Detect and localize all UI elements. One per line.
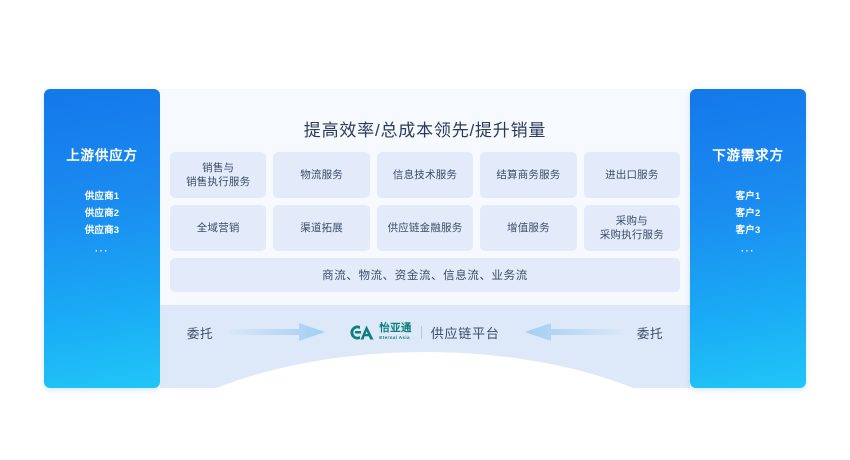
service-card[interactable]: 销售与 销售执行服务 (170, 152, 266, 198)
service-card[interactable]: 供应链金融服务 (377, 205, 473, 251)
service-card[interactable]: 信息技术服务 (377, 152, 473, 198)
upstream-suppliers-panel: 上游供应方 供应商1 供应商2 供应商3 ··· (44, 89, 160, 388)
platform-label: 供应链平台 (431, 323, 500, 342)
upstream-list: 供应商1 供应商2 供应商3 ··· (44, 188, 160, 260)
service-card[interactable]: 采购与 采购执行服务 (584, 205, 680, 251)
arrow-right-icon (226, 322, 328, 342)
platform-brand: 怡亚通 Eternal Asia 供应链平台 (328, 323, 522, 342)
arrow-left-icon (522, 322, 624, 342)
service-card-line1: 物流服务 (300, 168, 343, 182)
service-card[interactable]: 增值服务 (480, 205, 576, 251)
service-card-line1: 渠道拓展 (300, 221, 343, 235)
page-title: 提高效率/总成本领先/提升销量 (160, 89, 690, 141)
service-card-line1: 信息技术服务 (393, 168, 457, 182)
white-dome-shape (160, 352, 690, 388)
list-item-ellipsis: ··· (690, 239, 806, 260)
list-item: 供应商2 (44, 205, 160, 222)
service-card-line2: 销售执行服务 (186, 175, 250, 189)
service-card-line1: 结算商务服务 (496, 168, 560, 182)
list-item: 客户1 (690, 188, 806, 205)
list-item: 供应商3 (44, 222, 160, 239)
upstream-title: 上游供应方 (44, 144, 160, 164)
service-grid: 销售与 销售执行服务 物流服务 信息技术服务 结算商务服务 进出口服务 (160, 141, 690, 251)
entrust-label-right: 委托 (624, 323, 676, 342)
service-card-line1: 销售与 (186, 161, 250, 175)
flow-types-bar[interactable]: 商流、物流、资金流、信息流、业务流 (170, 258, 680, 292)
platform-stage: 提高效率/总成本领先/提升销量 销售与 销售执行服务 物流服务 信息技术服务 结… (160, 89, 690, 388)
service-row-1: 销售与 销售执行服务 物流服务 信息技术服务 结算商务服务 进出口服务 (170, 152, 680, 198)
brand-name-en: Eternal Asia (379, 336, 411, 341)
brand-divider (421, 326, 422, 339)
flow-types-label: 商流、物流、资金流、信息流、业务流 (322, 267, 528, 283)
service-card[interactable]: 结算商务服务 (480, 152, 576, 198)
service-card-line2: 采购执行服务 (600, 228, 664, 242)
infographic-canvas: 上游供应方 供应商1 供应商2 供应商3 ··· 提高效率/总成本领先/提升销量… (0, 0, 850, 460)
service-card-line1: 增值服务 (507, 221, 550, 235)
brand-name-cn: 怡亚通 (379, 323, 411, 334)
service-card-line1: 供应链金融服务 (388, 221, 463, 235)
downstream-customers-panel: 下游需求方 客户1 客户2 客户3 ··· (690, 89, 806, 388)
service-card[interactable]: 渠道拓展 (273, 205, 369, 251)
list-item: 客户2 (690, 205, 806, 222)
service-card[interactable]: 全域营销 (170, 205, 266, 251)
entrust-label-left: 委托 (174, 323, 226, 342)
list-item-ellipsis: ··· (44, 239, 160, 260)
entrust-band: 委托 (160, 305, 690, 388)
downstream-title: 下游需求方 (690, 144, 806, 164)
ea-monogram-icon: 怡亚通 Eternal Asia (350, 323, 411, 340)
service-card-line1: 采购与 (600, 214, 664, 228)
list-item: 客户3 (690, 222, 806, 239)
service-card[interactable]: 物流服务 (273, 152, 369, 198)
list-item: 供应商1 (44, 188, 160, 205)
service-card-line1: 进出口服务 (605, 168, 659, 182)
downstream-list: 客户1 客户2 客户3 ··· (690, 188, 806, 260)
service-card-line1: 全域营销 (197, 221, 240, 235)
service-row-2: 全域营销 渠道拓展 供应链金融服务 增值服务 采购与 采购执行服务 (170, 205, 680, 251)
service-card[interactable]: 进出口服务 (584, 152, 680, 198)
